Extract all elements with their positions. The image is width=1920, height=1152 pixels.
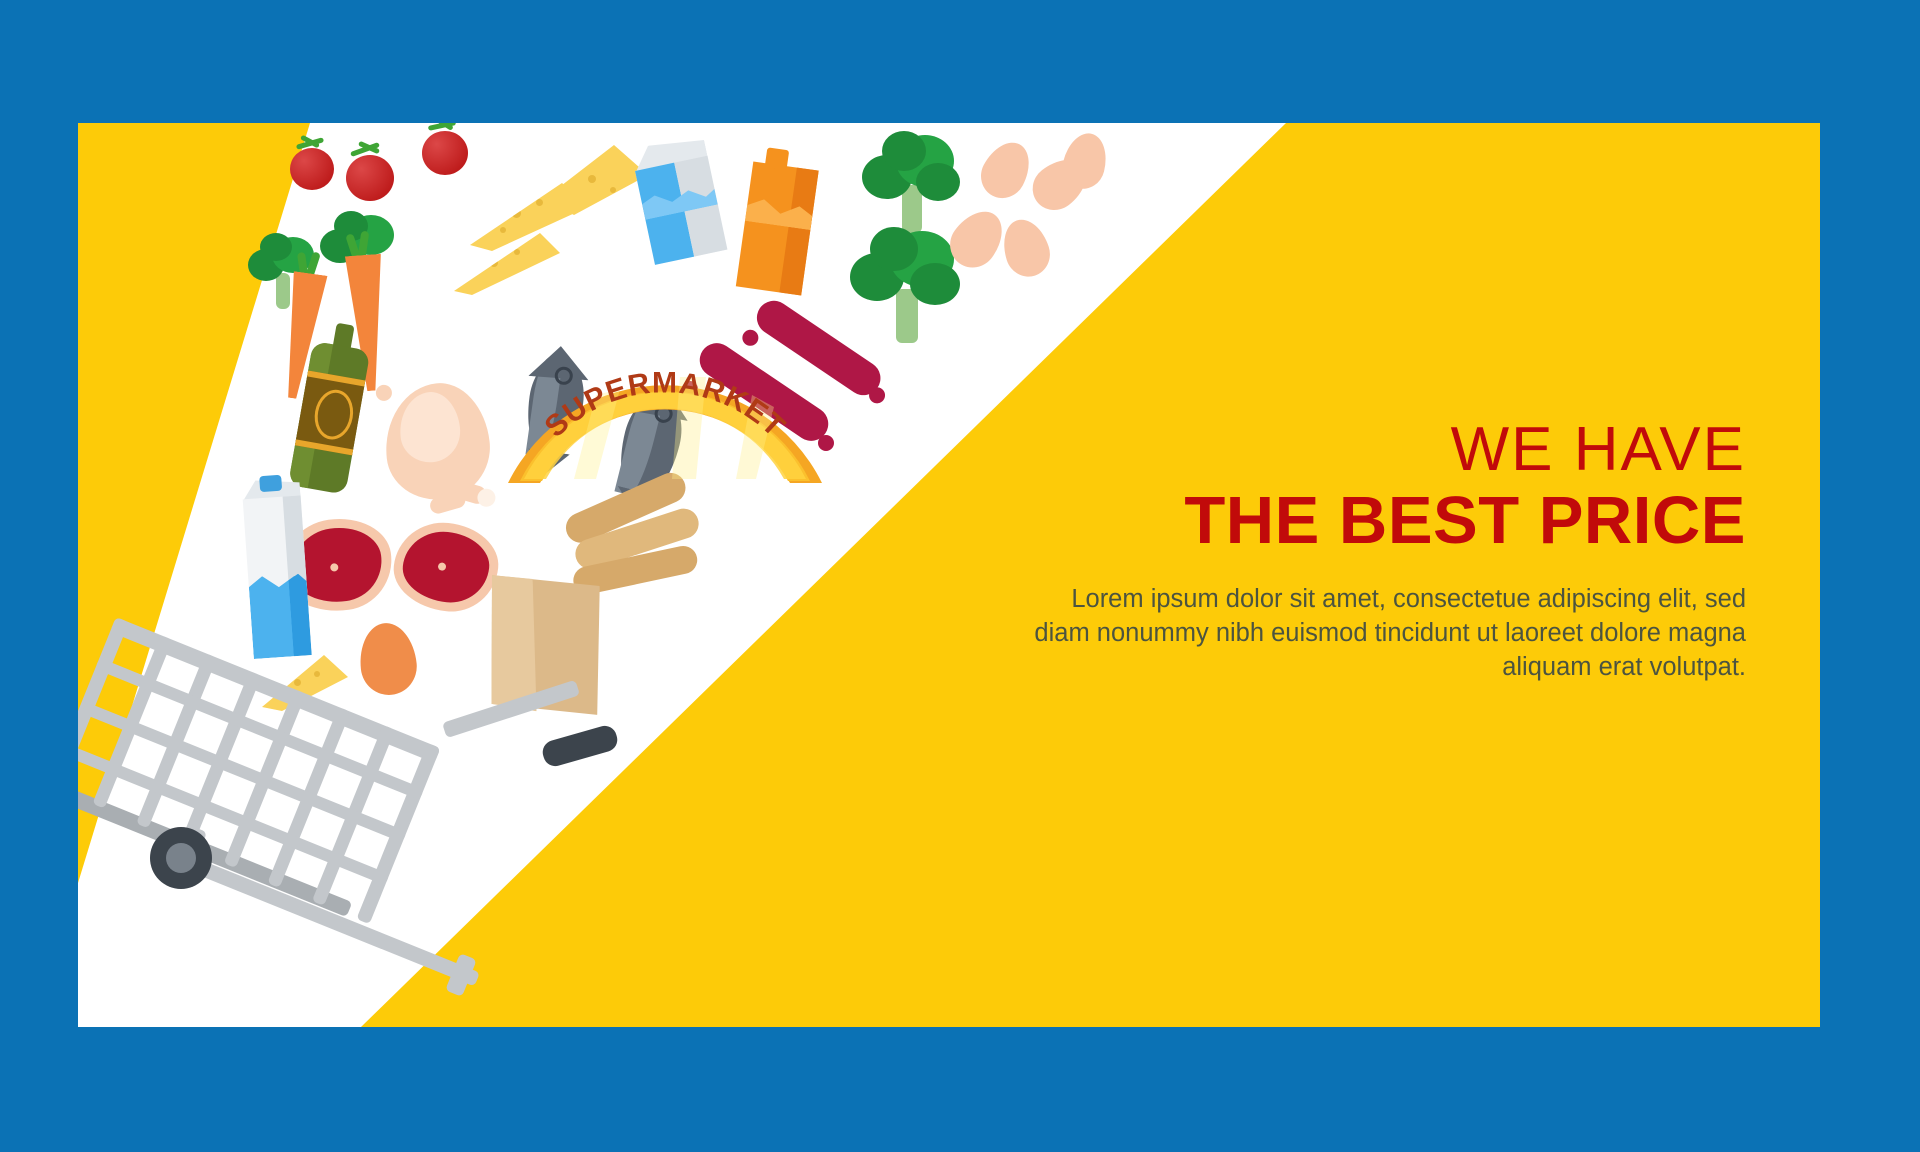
egg-icon (996, 214, 1056, 283)
cart-handle (540, 723, 620, 769)
headline-main: THE BEST PRICE (1026, 487, 1746, 555)
egg-icon (973, 134, 1039, 206)
tomato-icon (422, 131, 468, 175)
juice-carton-icon (717, 143, 858, 318)
tomato-icon (346, 155, 394, 201)
body-paragraph: Lorem ipsum dolor sit amet, consectetue … (1026, 582, 1746, 684)
headline-top: WE HAVE (1026, 418, 1746, 481)
poster-card: SUPERMARKET (78, 123, 1820, 1027)
broccoli-icon (856, 129, 966, 237)
shopping-cart-icon (106, 555, 606, 995)
copy-block: WE HAVE THE BEST PRICE Lorem ipsum dolor… (1026, 418, 1746, 684)
tomato-icon (290, 148, 334, 190)
poster-root: SUPERMARKET (0, 0, 1920, 1152)
supermarket-sign: SUPERMARKET (500, 355, 830, 495)
